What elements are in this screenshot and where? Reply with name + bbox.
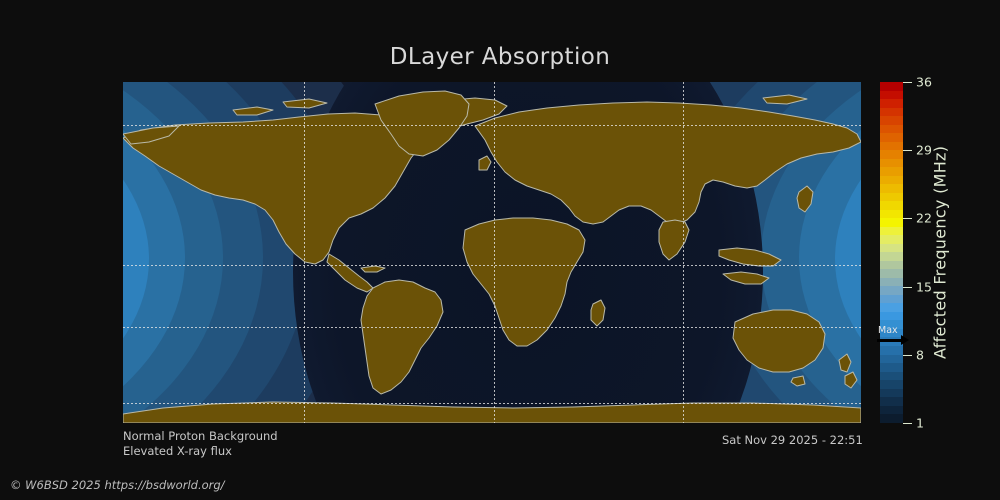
- xray-status-text: Elevated X-ray flux: [123, 444, 278, 459]
- colorbar-segment: [880, 133, 903, 142]
- colorbar-segment: [880, 82, 903, 91]
- colorbar-segment: [880, 150, 903, 159]
- colorbar-segment: [880, 193, 903, 202]
- colorbar-segment: [880, 278, 903, 287]
- colorbar-axis-title: Affected Frequency (MHz): [928, 82, 952, 423]
- colorbar-segment: [880, 227, 903, 236]
- colorbar-segment: [880, 235, 903, 244]
- colorbar-segment: [880, 210, 903, 219]
- arrow-head-icon: [901, 335, 909, 345]
- proton-status-text: Normal Proton Background: [123, 429, 278, 444]
- app-root: DLayer Absorption: [0, 0, 1000, 500]
- colorbar-tick-label: 8: [916, 348, 924, 363]
- max-marker-label: Max: [878, 325, 898, 336]
- arrow-right-icon: [877, 339, 903, 342]
- colorbar-segment: [880, 184, 903, 193]
- colorbar-segment: [880, 244, 903, 253]
- colorbar-segment: [880, 176, 903, 185]
- continents-layer: [123, 82, 861, 423]
- colorbar-segment: [880, 372, 903, 381]
- colorbar[interactable]: [880, 82, 903, 423]
- colorbar-segment: [880, 252, 903, 261]
- colorbar-segment: [880, 99, 903, 108]
- colorbar-segment: [880, 116, 903, 125]
- colorbar-segment: [880, 380, 903, 389]
- colorbar-segment: [880, 125, 903, 134]
- colorbar-segment: [880, 397, 903, 406]
- colorbar-segment: [880, 286, 903, 295]
- max-marker: Max: [876, 326, 914, 350]
- colorbar-tick-mark: [903, 287, 912, 288]
- colorbar-segment: [880, 303, 903, 312]
- colorbar-tick-mark: [903, 150, 912, 151]
- copyright-footer: © W6BSD 2025 https://bsdworld.org/: [10, 478, 225, 492]
- colorbar-segment: [880, 414, 903, 423]
- colorbar-segment: [880, 167, 903, 176]
- colorbar-tick-mark: [903, 82, 912, 83]
- page-title: DLayer Absorption: [0, 44, 1000, 70]
- colorbar-segment: [880, 142, 903, 151]
- colorbar-segment: [880, 312, 903, 321]
- timestamp-label: Sat Nov 29 2025 - 22:51: [722, 433, 863, 447]
- colorbar-segment: [880, 108, 903, 117]
- world-map[interactable]: [123, 82, 861, 423]
- colorbar-segment: [880, 363, 903, 372]
- colorbar-tick-label: 1: [916, 416, 924, 431]
- colorbar-tick-mark: [903, 355, 912, 356]
- status-captions: Normal Proton Background Elevated X-ray …: [123, 429, 278, 459]
- colorbar-segment: [880, 295, 903, 304]
- colorbar-segment: [880, 355, 903, 364]
- colorbar-segment: [880, 389, 903, 398]
- colorbar-tick-mark: [903, 218, 912, 219]
- colorbar-segment: [880, 261, 903, 270]
- colorbar-segment: [880, 269, 903, 278]
- colorbar-segment: [880, 218, 903, 227]
- colorbar-tick-mark: [903, 423, 912, 424]
- colorbar-segment: [880, 91, 903, 100]
- colorbar-segment: [880, 406, 903, 415]
- colorbar-segment: [880, 201, 903, 210]
- colorbar-segment: [880, 159, 903, 168]
